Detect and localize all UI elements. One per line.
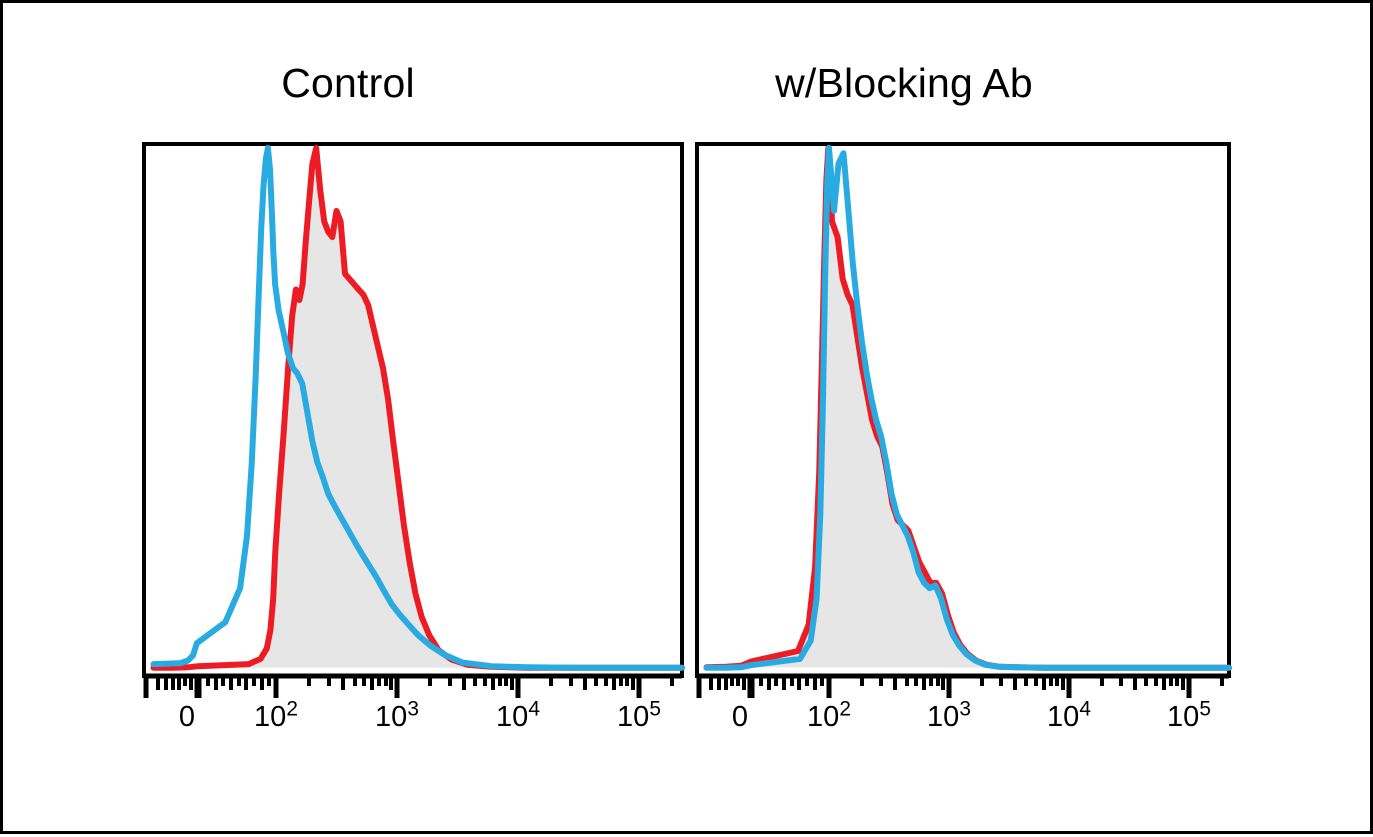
axis-ticks-blocking-ab	[697, 676, 1229, 698]
tick-label-1e3: 103	[375, 703, 419, 732]
tick-label-1e2: 102	[254, 703, 298, 732]
panel-title-blocking-ab: w/Blocking Ab	[559, 63, 1249, 104]
plot-frame-blocking-ab	[697, 144, 1229, 676]
tick-label-1e5: 105	[1167, 703, 1211, 732]
figure-root: Control	[0, 0, 1373, 834]
panel-blocking-ab: w/Blocking Ab	[559, 3, 1249, 837]
plot-area-blocking-ab	[559, 138, 1249, 708]
tick-label-1e2: 102	[807, 703, 851, 732]
tick-label-0: 0	[732, 703, 748, 732]
tick-label-1e4: 104	[496, 703, 540, 732]
axis-tick-labels-blocking-ab: 0 102 103 104 105	[559, 703, 1249, 763]
tick-label-1e3: 103	[927, 703, 971, 732]
tick-label-0: 0	[179, 703, 195, 732]
tick-label-1e4: 104	[1047, 703, 1091, 732]
